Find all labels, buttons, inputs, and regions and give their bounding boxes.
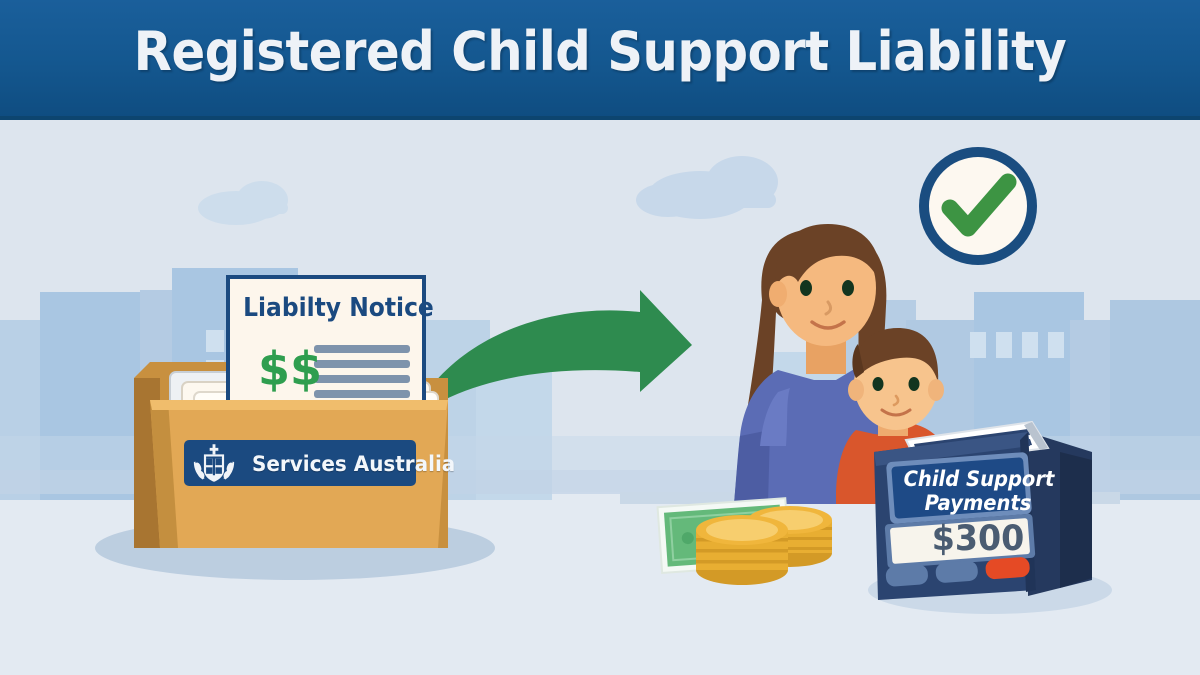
- terminal-amount: $300: [902, 519, 1054, 559]
- document-title: Liabilty Notice: [243, 293, 407, 323]
- illustration-scene: Registered Child Support Liability: [0, 0, 1200, 675]
- approved-check-badge: [0, 0, 1200, 675]
- folder-label: Services Australia: [252, 452, 455, 476]
- terminal-screen-line-2: Payments: [904, 491, 1053, 515]
- terminal-screen-line-1: Child Support: [904, 467, 1053, 491]
